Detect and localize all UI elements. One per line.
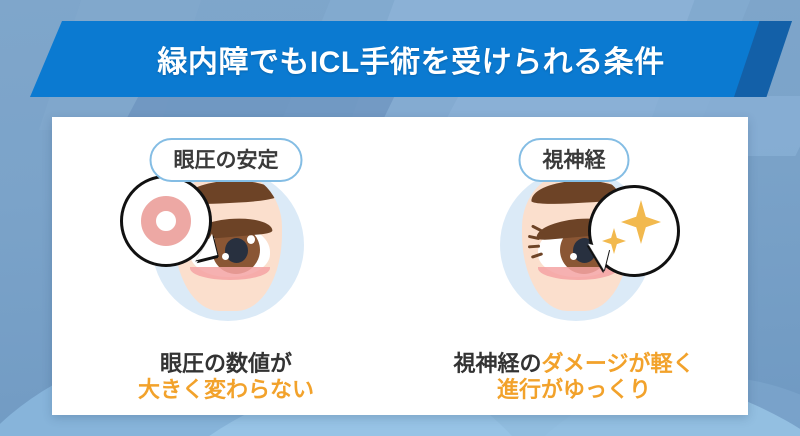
caption-line-1: 眼圧の数値が xyxy=(52,351,400,377)
speech-bubble-left xyxy=(120,175,212,267)
eye-highlight-icon xyxy=(247,235,255,244)
speech-bubble-right xyxy=(588,185,680,277)
page-title: 緑内障でもICL手術を受けられる条件 xyxy=(30,21,792,97)
panel-caption-right: 視神経のダメージが軽く 進行がゆっくり xyxy=(400,351,748,403)
eye-highlight-icon xyxy=(570,253,577,260)
panel-intraocular-pressure: 眼圧の安定 xyxy=(52,117,400,415)
eyelash-icon xyxy=(531,224,543,232)
content-card: 眼圧の安定 xyxy=(52,117,748,415)
panel-optic-nerve: 視神経 xyxy=(400,117,748,415)
caption-line-1-plain: 視神経の xyxy=(454,351,542,376)
eye-lower-lid xyxy=(190,267,270,280)
condition-panels: 眼圧の安定 xyxy=(52,117,748,415)
panel-caption-left: 眼圧の数値が 大きく変わらない xyxy=(52,351,400,403)
caption-line-2: 大きく変わらない xyxy=(52,377,400,403)
caption-line-1: 視神経のダメージが軽く xyxy=(400,351,748,377)
eye-pupil xyxy=(225,238,248,263)
ring-icon xyxy=(141,196,191,246)
eye-lower-lid xyxy=(538,267,618,280)
eye-highlight-icon xyxy=(222,253,229,260)
caption-line-1-highlight: ダメージが軽く xyxy=(542,351,695,376)
panel-label-pill-right: 視神経 xyxy=(519,138,630,182)
title-banner: 緑内障でもICL手術を受けられる条件 xyxy=(30,21,792,97)
caption-line-2: 進行がゆっくり xyxy=(400,377,748,403)
infographic-stage: 緑内障でもICL手術を受けられる条件 眼圧の安定 xyxy=(0,0,800,436)
sparkle-icon xyxy=(621,200,661,244)
panel-label-pill-left: 眼圧の安定 xyxy=(150,138,303,182)
